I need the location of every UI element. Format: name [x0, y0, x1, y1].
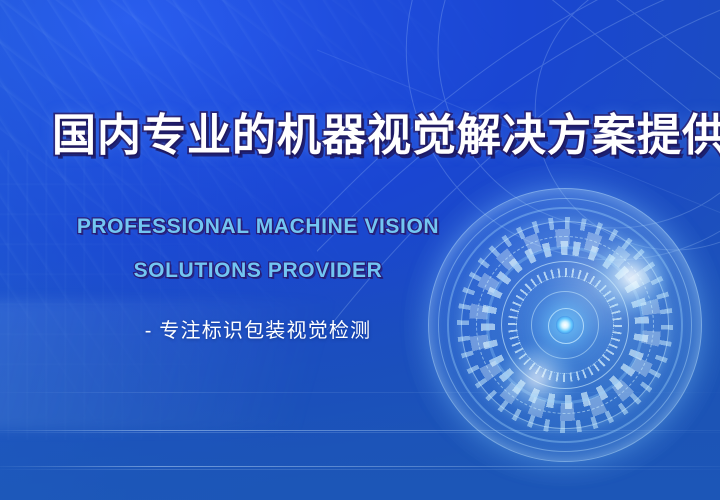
subtitle-english: PROFESSIONAL MACHINE VISION SOLUTIONS PR… [52, 205, 464, 293]
headline-chinese: 国内专业的机器视觉解决方案提供商 [52, 110, 662, 162]
subtitle-line-2: SOLUTIONS PROVIDER [52, 249, 464, 293]
banner-text-content: 国内专业的机器视觉解决方案提供商 PROFESSIONAL MACHINE VI… [0, 0, 720, 500]
subtitle-line-1: PROFESSIONAL MACHINE VISION [52, 205, 464, 249]
hero-banner: 国内专业的机器视觉解决方案提供商 PROFESSIONAL MACHINE VI… [0, 0, 720, 500]
tagline-chinese: - 专注标识包装视觉检测 [52, 318, 464, 344]
